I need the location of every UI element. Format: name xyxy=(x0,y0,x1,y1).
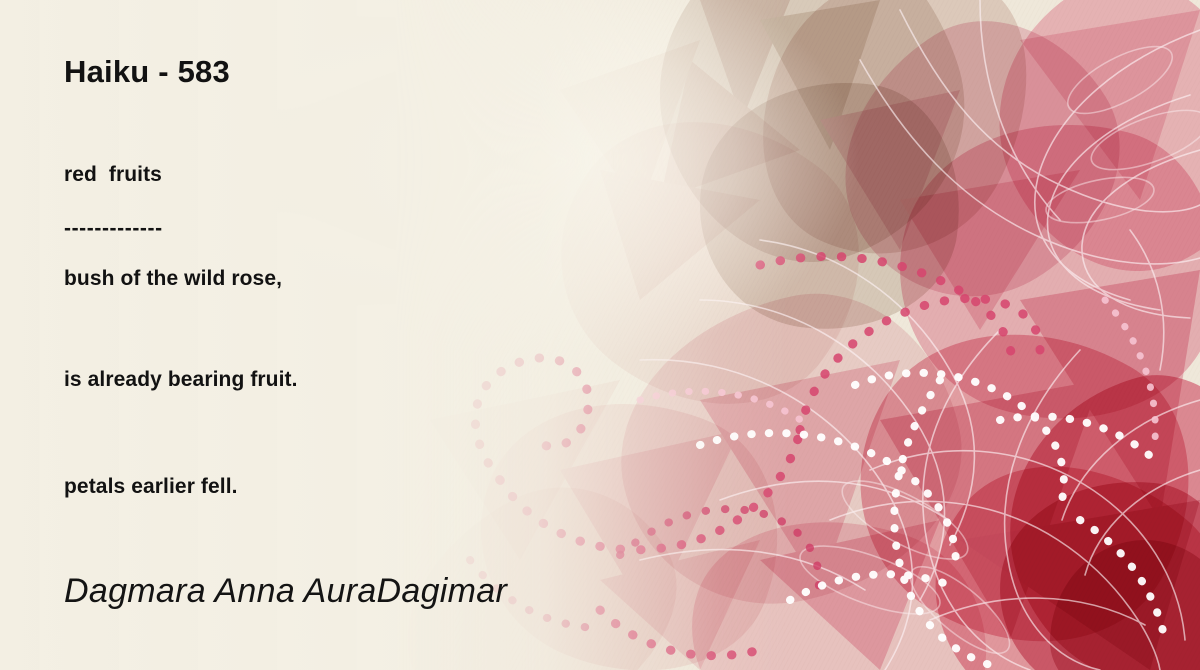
author-name: Dagmara Anna AuraDagimar xyxy=(64,572,507,611)
poem-line: is already bearing fruit. xyxy=(64,368,298,392)
poem-line: petals earlier fell. xyxy=(64,475,238,499)
poem-line: red fruits xyxy=(64,163,162,187)
poem-line: bush of the wild rose, xyxy=(64,267,282,291)
poem-card: Haiku - 583 red fruits ------------- bus… xyxy=(0,0,1200,670)
poem-content: Haiku - 583 red fruits ------------- bus… xyxy=(0,0,1200,670)
page-title: Haiku - 583 xyxy=(64,54,230,90)
poem-separator: ------------- xyxy=(64,217,163,241)
